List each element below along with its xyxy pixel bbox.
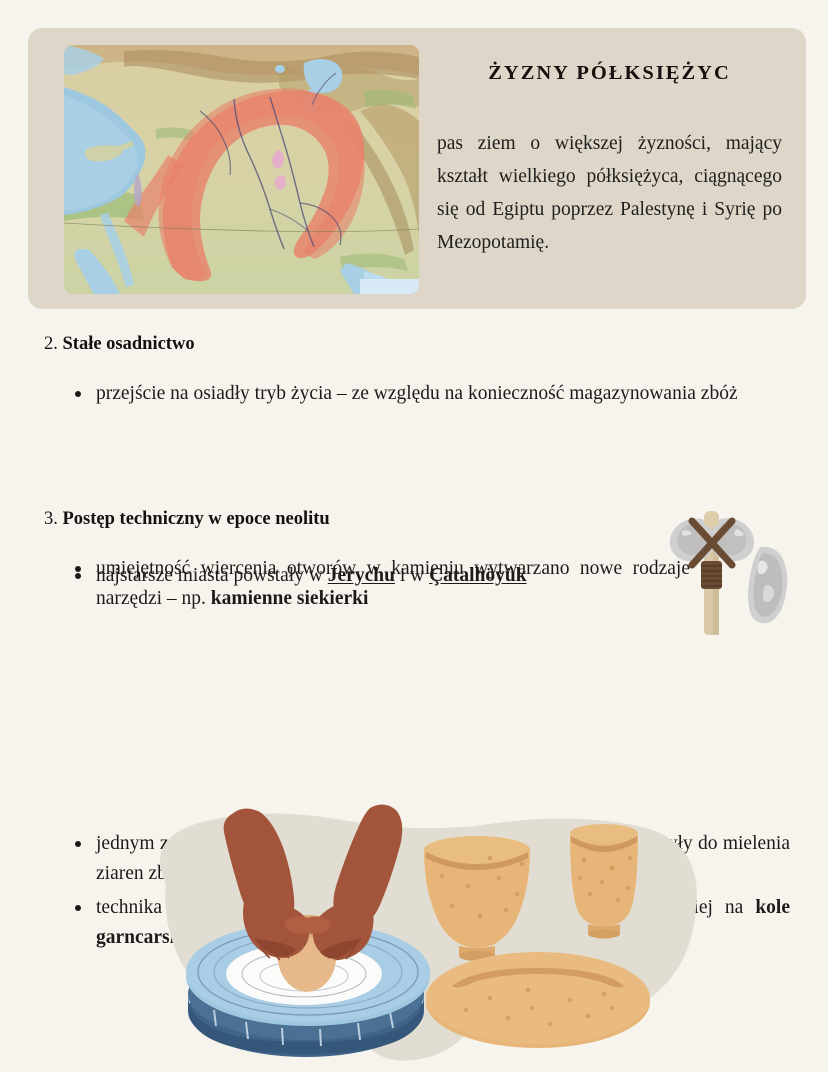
- bullet-text: przejście na osiadły tryb życia – ze wzg…: [96, 383, 738, 404]
- section-2-heading: 2. Stałe osadnictwo: [0, 331, 828, 357]
- section-3-number: 3.: [44, 509, 58, 529]
- section-2-bullet-list: przejście na osiadły tryb życia – ze wzg…: [70, 379, 790, 409]
- fertile-crescent-card: ŻYZNY PÓŁKSIĘŻYC pas ziem o większej żyz…: [28, 28, 806, 309]
- notes-content: 2. Stałe osadnictwo przejście na osiadły…: [0, 331, 828, 357]
- section-3-bullet-list: umiejętność wiercenia otworów w kamieniu…: [70, 554, 690, 614]
- fertile-crescent-map: [64, 45, 419, 294]
- keyword-siekierki: kamienne siekierki: [211, 588, 369, 609]
- bullet-text: umiejętność wiercenia otworów w kamieniu…: [96, 558, 690, 609]
- map-graphic: [64, 45, 419, 294]
- potter-wheel-illustration: [118, 798, 718, 1072]
- pottery-graphic: [118, 798, 718, 1072]
- section-3-title: Postęp techniczny w epoce neolitu: [63, 509, 330, 529]
- hero-text-block: ŻYZNY PÓŁKSIĘŻYC pas ziem o większej żyz…: [437, 62, 782, 259]
- list-item: przejście na osiadły tryb życia – ze wzg…: [70, 379, 790, 409]
- hero-description: pas ziem o większej żyzności, mający ksz…: [437, 91, 782, 259]
- stone-axe-graphic: [648, 499, 808, 639]
- section-2: 2. Stałe osadnictwo przejście na osiadły…: [0, 331, 828, 357]
- section-2-title: Stałe osadnictwo: [63, 334, 195, 354]
- list-item: umiejętność wiercenia otworów w kamieniu…: [70, 554, 690, 614]
- stone-axe-illustration: [648, 499, 808, 639]
- section-2-number: 2.: [44, 334, 58, 354]
- page-title: ŻYZNY PÓŁKSIĘŻYC: [437, 62, 782, 85]
